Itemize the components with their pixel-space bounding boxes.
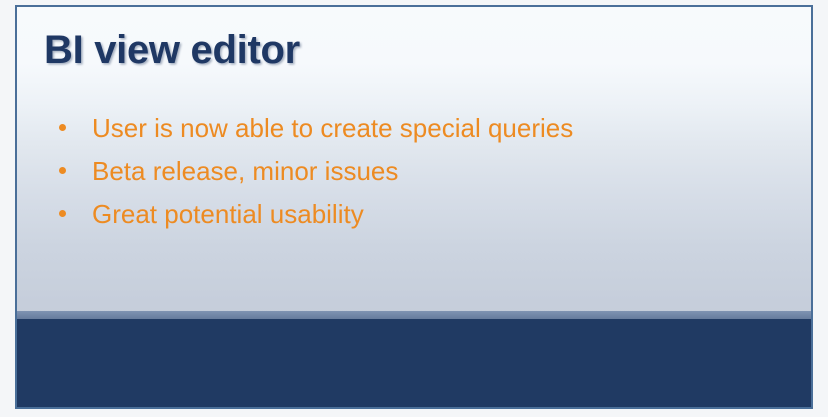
slide-title-block: BI view editor (44, 25, 781, 75)
list-item-label: User is now able to create special queri… (92, 111, 573, 145)
slide-title: BI view editor (44, 25, 781, 75)
list-item-label: Great potential usability (92, 197, 364, 231)
list-item: Beta release, minor issues (45, 154, 781, 197)
bullet-dot-icon (59, 167, 66, 174)
list-item: User is now able to create special queri… (45, 111, 781, 154)
list-item: Great potential usability (45, 197, 781, 240)
bullet-dot-icon (59, 124, 66, 131)
bullet-dot-icon (59, 210, 66, 217)
list-item-label: Beta release, minor issues (92, 154, 398, 188)
slide-footer-band (17, 311, 811, 407)
slide-footer-band-core (17, 319, 811, 407)
slide-frame: BI view editor User is now able to creat… (15, 5, 813, 409)
bullet-list: User is now able to create special queri… (45, 111, 781, 240)
